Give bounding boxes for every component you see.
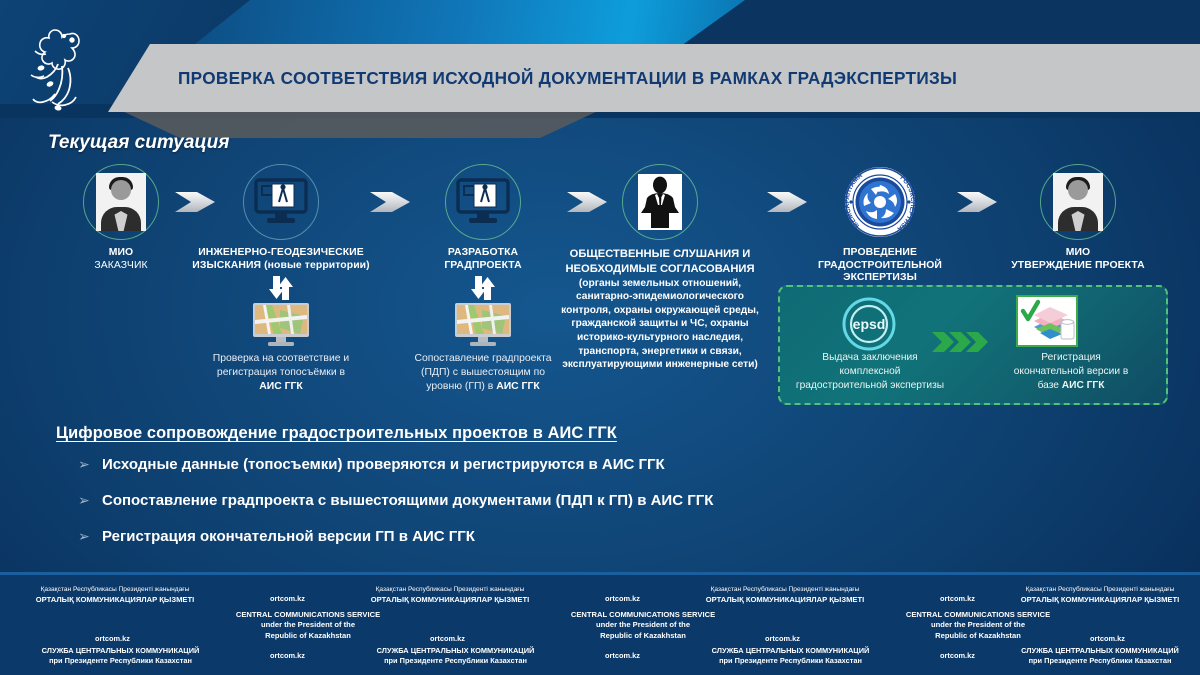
footer-logo-kz: Қазақстан Республикасы Президенті жанынд… — [345, 586, 555, 606]
bullet-heading: Цифровое сопровождение градостроительных… — [56, 424, 1056, 443]
epsd-logo-icon: epsd — [842, 297, 896, 351]
footer-url: ortcom.kz — [765, 634, 800, 643]
panel-right-caption: Регистрация окончательной версии в базе … — [978, 351, 1164, 392]
slide-root: ПРОВЕРКА СООТВЕТСТВИЯ ИСХОДНОЙ ДОКУМЕНТА… — [0, 0, 1200, 675]
footer-logo-kz: Қазақстан Республикасы Президенті жанынд… — [10, 586, 220, 606]
panel-left-line3: градостроительной экспертизы — [788, 379, 952, 393]
node-circle: МЕМСАРАПТАМА ГОСЭКСПЕРТИЗА — [842, 164, 918, 240]
footer-logo-ru: СЛУЖБА ЦЕНТРАЛЬНЫХ КОММУНИКАЦИЙ при През… — [13, 646, 228, 666]
node-circle — [83, 164, 159, 240]
public-hearings-rest: (органы земельных отношений, санитарно-э… — [561, 278, 759, 370]
bullet-marker-icon: ➢ — [78, 457, 94, 472]
monitor-compass-icon — [456, 178, 510, 226]
sub-caption-line1: Проверка на соответствие и — [186, 352, 376, 366]
flow-node-engineering-surveys: ИНЖЕНЕРНО-ГЕОДЕЗИЧЕСКИЕ ИЗЫСКАНИЯ (новые… — [186, 164, 376, 395]
sub-caption-1: Проверка на соответствие и регистрация т… — [186, 352, 376, 394]
panel-right-line3: базе — [1038, 380, 1062, 391]
footer-logo-en: CENTRAL COMMUNICATIONS SERVICE under the… — [213, 610, 403, 641]
panel-right-line2: окончательной версии в — [978, 365, 1164, 379]
node-circle — [1040, 164, 1116, 240]
node-label-line2: ГРАДОСТРОИТЕЛЬНОЙ ЭКСПЕРТИЗЫ — [790, 260, 970, 285]
speaker-podium-icon — [638, 174, 682, 230]
footer-url: ortcom.kz — [270, 594, 305, 603]
footer-logo-kz: Қазақстан Республикасы Президенті жанынд… — [1000, 586, 1200, 606]
footer-kz-bold: ОРТАЛЫҚ КОММУНИКАЦИЯЛАР ҚЫЗМЕТІ — [371, 595, 530, 604]
footer-ru-small: при Президенте Республики Казахстан — [683, 656, 898, 666]
footer-logo-ru: СЛУЖБА ЦЕНТРАЛЬНЫХ КОММУНИКАЦИЙ при През… — [1000, 646, 1200, 666]
footer-en-small2: Republic of Kazakhstan — [213, 631, 403, 641]
node-label-line2: УТВЕРЖДЕНИЕ ПРОЕКТА — [1008, 260, 1148, 273]
footer-url: ortcom.kz — [940, 594, 975, 603]
node-label-line1: ИНЖЕНЕРНО-ГЕОДЕЗИЧЕСКИЕ — [186, 247, 376, 260]
panel-left-line2: комплексной — [788, 365, 952, 379]
footer-url: ortcom.kz — [95, 634, 130, 643]
footer-kz-small: Қазақстан Республикасы Президенті жанынд… — [345, 586, 555, 595]
footer-en-small1: under the President of the — [548, 620, 738, 630]
footer-logo-en: CENTRAL COMMUNICATIONS SERVICE under the… — [883, 610, 1073, 641]
node-label-line1: МИО — [1008, 247, 1148, 260]
epsd-logo-text: epsd — [853, 316, 886, 332]
flow-node-mio-approval: МИО УТВЕРЖДЕНИЕ ПРОЕКТА — [1008, 164, 1148, 272]
footer-ru-bold: СЛУЖБА ЦЕНТРАЛЬНЫХ КОММУНИКАЦИЙ — [683, 646, 898, 656]
monitor-compass-icon — [254, 178, 308, 226]
footer-logo-ru: СЛУЖБА ЦЕНТРАЛЬНЫХ КОММУНИКАЦИЙ при През… — [683, 646, 898, 666]
footer-ru-small: при Президенте Республики Казахстан — [13, 656, 228, 666]
sub-caption-line2: регистрация топосъёмки в — [186, 366, 376, 380]
bullet-marker-icon: ➢ — [78, 529, 94, 544]
kazakhstan-snow-leopard-emblem-icon — [28, 24, 94, 116]
footer-ru-bold: СЛУЖБА ЦЕНТРАЛЬНЫХ КОММУНИКАЦИЙ — [348, 646, 563, 656]
footer-url: ortcom.kz — [430, 634, 465, 643]
footer-url: ortcom.kz — [270, 651, 305, 660]
bullet-text: Исходные данные (топосъемки) проверяются… — [102, 456, 665, 474]
title-banner: ПРОВЕРКА СООТВЕТСТВИЯ ИСХОДНОЙ ДОКУМЕНТА… — [108, 44, 1200, 112]
flow-node-public-hearings: ОБЩЕСТВЕННЫЕ СЛУШАНИЯ И НЕОБХОДИМЫЕ СОГЛ… — [556, 164, 764, 372]
person-photo-icon — [1053, 173, 1103, 231]
bidirectional-arrow-icon — [266, 276, 296, 300]
page-title: ПРОВЕРКА СООТВЕТСТВИЯ ИСХОДНОЙ ДОКУМЕНТА… — [178, 68, 957, 89]
footer-en-small2: Republic of Kazakhstan — [548, 631, 738, 641]
footer-kz-bold: ОРТАЛЫҚ КОММУНИКАЦИЯЛАР ҚЫЗМЕТІ — [706, 595, 865, 604]
node-label-line2: ЗАКАЗЧИК — [78, 260, 164, 273]
sub-caption-line3b: АИС ГГК — [496, 381, 540, 392]
panel-right-line1: Регистрация — [978, 351, 1164, 365]
panel-right-line3b: АИС ГГК — [1062, 380, 1105, 391]
node-label-line2: ГРАДПРОЕКТА — [395, 260, 571, 273]
process-flow: МИО ЗАКАЗЧИК — [0, 160, 1200, 420]
footer-kz-bold: ОРТАЛЫҚ КОММУНИКАЦИЯЛАР ҚЫЗМЕТІ — [36, 595, 195, 604]
sub-caption-line1: Сопоставление градпроекта — [395, 352, 571, 366]
node-label-line1: РАЗРАБОТКА — [395, 247, 571, 260]
node-circle — [445, 164, 521, 240]
footer-bar: Қазақстан Республикасы Президенті жанынд… — [0, 572, 1200, 675]
footer-ru-bold: СЛУЖБА ЦЕНТРАЛЬНЫХ КОММУНИКАЦИЙ — [1000, 646, 1200, 656]
monitor-map-icon — [250, 302, 312, 348]
flow-node-gradproject-development: РАЗРАБОТКА ГРАДПРОЕКТА — [395, 164, 571, 395]
footer-logo-en: CENTRAL COMMUNICATIONS SERVICE under the… — [548, 610, 738, 641]
footer-kz-bold: ОРТАЛЫҚ КОММУНИКАЦИЯЛАР ҚЫЗМЕТІ — [1021, 595, 1180, 604]
footer-en-bold: CENTRAL COMMUNICATIONS SERVICE — [213, 610, 403, 620]
footer-logo-kz: Қазақстан Республикасы Президенті жанынд… — [680, 586, 890, 606]
footer-en-small1: under the President of the — [883, 620, 1073, 630]
footer-url: ortcom.kz — [605, 594, 640, 603]
node-label-line1: ПРОВЕДЕНИЕ — [790, 247, 970, 260]
sub-caption-line2: (ПДП) с вышестоящим по — [395, 366, 571, 380]
footer-url: ortcom.kz — [940, 651, 975, 660]
footer-en-small2: Republic of Kazakhstan — [883, 631, 1073, 641]
public-hearings-text: ОБЩЕСТВЕННЫЕ СЛУШАНИЯ И НЕОБХОДИМЫЕ СОГЛ… — [556, 247, 764, 372]
footer-kz-small: Қазақстан Республикасы Президенті жанынд… — [1000, 586, 1200, 595]
bullet-marker-icon: ➢ — [78, 493, 94, 508]
footer-ru-small: при Президенте Республики Казахстан — [1000, 656, 1200, 666]
bullet-section: Цифровое сопровождение градостроительных… — [56, 424, 1056, 564]
person-photo-icon — [96, 173, 146, 231]
panel-left-line1: Выдача заключения — [788, 351, 952, 365]
footer-url: ortcom.kz — [605, 651, 640, 660]
sub-caption-line3: уровню (ГП) в — [426, 381, 496, 392]
footer-kz-small: Қазақстан Республикасы Президенті жанынд… — [10, 586, 220, 595]
footer-en-small1: under the President of the — [213, 620, 403, 630]
footer-en-bold: CENTRAL COMMUNICATIONS SERVICE — [883, 610, 1073, 620]
flow-node-mio-customer: МИО ЗАКАЗЧИК — [78, 164, 164, 272]
footer-ru-bold: СЛУЖБА ЦЕНТРАЛЬНЫХ КОММУНИКАЦИЙ — [13, 646, 228, 656]
footer-en-bold: CENTRAL COMMUNICATIONS SERVICE — [548, 610, 738, 620]
section-subtitle: Текущая ситуация — [48, 132, 229, 154]
node-label-line1: МИО — [78, 247, 164, 260]
footer-ru-small: при Президенте Республики Казахстан — [348, 656, 563, 666]
bullet-text: Сопоставление градпроекта с вышестоящими… — [102, 492, 713, 510]
monitor-map-icon — [452, 302, 514, 348]
footer-url: ortcom.kz — [1090, 634, 1125, 643]
list-item: ➢ Сопоставление градпроекта с вышестоящи… — [78, 492, 1056, 510]
footer-logo-strip: Қазақстан Республикасы Президенті жанынд… — [0, 575, 1200, 675]
node-circle — [622, 164, 698, 240]
public-hearings-caps: ОБЩЕСТВЕННЫЕ СЛУШАНИЯ И НЕОБХОДИМЫЕ СОГЛ… — [565, 248, 754, 275]
footer-kz-small: Қазақстан Республикасы Президенті жанынд… — [680, 586, 890, 595]
map-layers-check-icon — [1016, 295, 1078, 347]
node-circle — [243, 164, 319, 240]
node-label-line2: ИЗЫСКАНИЯ (новые территории) — [186, 260, 376, 273]
sub-caption-line3: АИС ГГК — [259, 381, 303, 392]
list-item: ➢ Исходные данные (топосъемки) проверяют… — [78, 456, 1056, 474]
panel-left-caption: Выдача заключения комплексной градострои… — [788, 351, 952, 392]
bullet-text: Регистрация окончательной версии ГП в АИ… — [102, 528, 475, 546]
aisggk-registration-panel: epsd Выдача заключения комплексной градо… — [778, 285, 1168, 405]
bidirectional-arrow-icon — [468, 276, 498, 300]
triple-chevron-right-icon — [932, 331, 990, 353]
list-item: ➢ Регистрация окончательной версии ГП в … — [78, 528, 1056, 546]
gosexpertiza-logo-icon: МЕМСАРАПТАМА ГОСЭКСПЕРТИЗА — [844, 166, 916, 238]
sub-caption-2: Сопоставление градпроекта (ПДП) с вышест… — [395, 352, 571, 394]
footer-logo-ru: СЛУЖБА ЦЕНТРАЛЬНЫХ КОММУНИКАЦИЙ при През… — [348, 646, 563, 666]
